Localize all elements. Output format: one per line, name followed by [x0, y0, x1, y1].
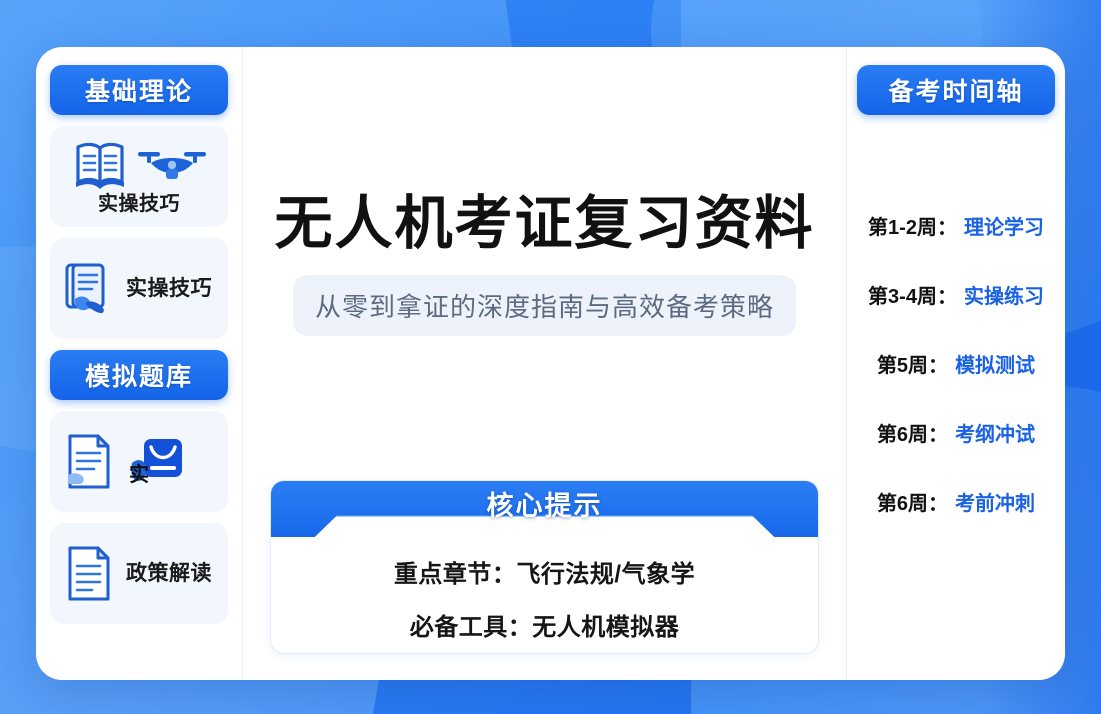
timeline-week: 第6周：: [877, 487, 948, 516]
core-tips-title: 核心提示: [271, 481, 818, 525]
timeline-item[interactable]: 第6周： 考纲冲试: [877, 418, 1035, 447]
left-item-label: 实操技巧: [98, 193, 180, 215]
timeline-item[interactable]: 第6周： 考前冲刺: [877, 487, 1035, 516]
timeline-item[interactable]: 第5周： 模拟测试: [877, 349, 1035, 378]
svg-text:实: 实: [129, 462, 149, 486]
drone-icon: [135, 145, 209, 185]
page-title: 无人机考证复习资料: [274, 195, 814, 253]
timeline-badge[interactable]: 备考时间轴: [857, 65, 1055, 115]
timeline-column: 备考时间轴 第1-2周： 理论学习 第3-4周： 实操练习 第5周： 模拟测试 …: [847, 47, 1065, 680]
poster-canvas: 基础理论: [0, 0, 1101, 714]
core-tip-line: 必备工具：无人机模拟器: [410, 607, 680, 642]
section-badge-basics[interactable]: 基础理论: [50, 65, 228, 115]
timeline-item[interactable]: 第1-2周： 理论学习: [868, 211, 1044, 240]
core-tips-ribbon: 核心提示: [271, 481, 818, 537]
main-column: 无人机考证复习资料 从零到拿证的深度指南与高效备考策略 核心提示 重点章节：飞行…: [243, 47, 847, 680]
timeline-week: 第1-2周：: [868, 211, 957, 240]
timeline-activity: 实操练习: [964, 280, 1044, 309]
chart-card-icon: 实: [126, 433, 188, 491]
left-item-label: 政策解读: [126, 562, 212, 585]
section-badge-mock-bank[interactable]: 模拟题库: [50, 350, 228, 400]
left-item-mock-bank-1[interactable]: 实: [50, 411, 228, 512]
left-item-policy[interactable]: 政策解读: [50, 523, 228, 624]
document-hand-icon: [58, 259, 120, 319]
policy-document-icon: [58, 543, 120, 605]
document-icon: [58, 431, 120, 493]
timeline-week: 第3-4周：: [868, 280, 957, 309]
timeline-list: 第1-2周： 理论学习 第3-4周： 实操练习 第5周： 模拟测试 第6周： 考…: [857, 211, 1055, 516]
timeline-activity: 理论学习: [964, 211, 1044, 240]
timeline-activity: 模拟测试: [955, 349, 1035, 378]
timeline-activity: 考前冲刺: [955, 487, 1035, 516]
timeline-week: 第5周：: [877, 349, 948, 378]
core-tips-box: 核心提示 重点章节：飞行法规/气象学 必备工具：无人机模拟器: [270, 480, 819, 654]
left-item-label: 实操技巧: [126, 277, 212, 300]
core-tip-line: 重点章节：飞行法规/气象学: [394, 554, 695, 589]
timeline-activity: 考纲冲试: [955, 418, 1035, 447]
open-book-icon: [69, 139, 131, 191]
timeline-week: 第6周：: [877, 418, 948, 447]
left-item-practical-skills-1[interactable]: 实操技巧: [50, 126, 228, 227]
core-tips-lines: 重点章节：飞行法规/气象学 必备工具：无人机模拟器: [271, 543, 818, 653]
left-item-practical-skills-2[interactable]: 实操技巧: [50, 238, 228, 339]
timeline-item[interactable]: 第3-4周： 实操练习: [868, 280, 1044, 309]
content-card: 基础理论: [36, 47, 1065, 680]
left-column: 基础理论: [36, 47, 243, 680]
page-subtitle: 从零到拿证的深度指南与高效备考策略: [293, 275, 796, 336]
